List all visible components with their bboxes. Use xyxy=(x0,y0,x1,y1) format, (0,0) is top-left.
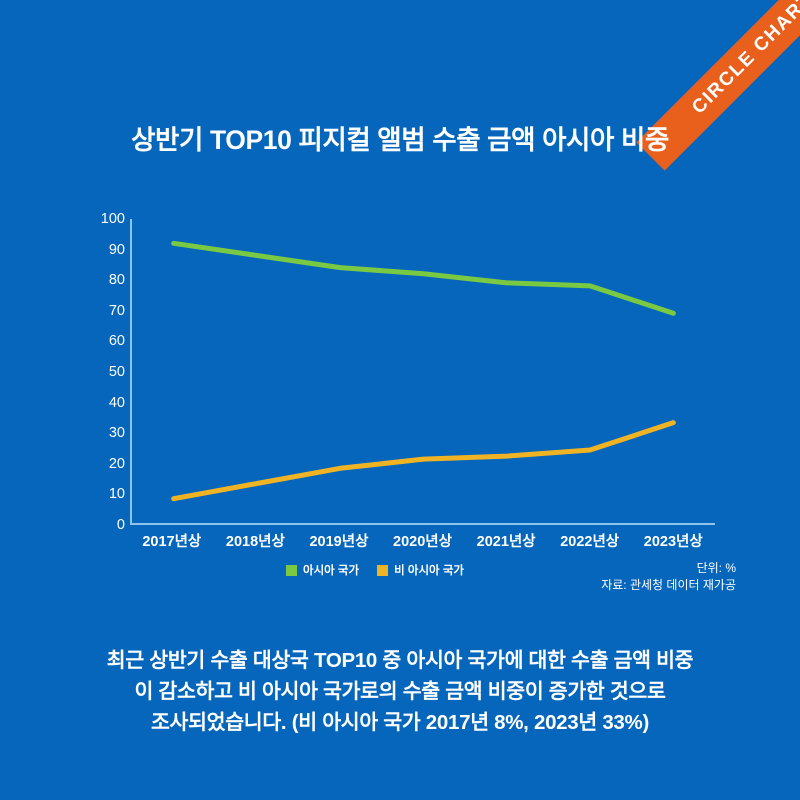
caption-line-3: 조사되었습니다. (비 아시아 국가 2017년 8%, 2023년 33%) xyxy=(30,707,770,738)
y-axis-labels: 100 90 80 70 60 50 40 30 20 10 0 xyxy=(85,219,125,525)
y-tick-0: 0 xyxy=(83,517,125,533)
series-line-아시아 국가 xyxy=(174,243,674,313)
infographic-canvas: CIRCLE CHART 상반기 TOP10 피지컬 앨범 수출 금액 아시아 … xyxy=(0,0,800,800)
y-tick-70: 70 xyxy=(83,303,125,319)
y-tick-60: 60 xyxy=(83,333,125,349)
source-note: 자료: 관세청 데이터 재가공 xyxy=(601,577,736,594)
y-tick-20: 20 xyxy=(83,456,125,472)
x-axis-labels: 2017년상 2018년상 2019년상 2020년상 2021년상 2022년… xyxy=(130,530,715,554)
x-tick-2018: 2018년상 xyxy=(214,530,298,554)
unit-note: 단위: % xyxy=(601,560,736,577)
y-tick-100: 100 xyxy=(83,211,125,227)
x-tick-2019: 2019년상 xyxy=(297,530,381,554)
square-swatch-icon xyxy=(286,565,297,576)
y-tick-80: 80 xyxy=(83,272,125,288)
plot-area xyxy=(130,219,715,525)
series-lines xyxy=(132,219,715,523)
caption-line-2: 이 감소하고 비 아시아 국가로의 수출 금액 비중이 증가한 것으로 xyxy=(30,676,770,707)
x-tick-2023: 2023년상 xyxy=(631,530,715,554)
corner-ribbon: CIRCLE CHART xyxy=(590,0,800,210)
series-line-비 아시아 국가 xyxy=(174,423,674,499)
chart-legend: 아시아 국가 비 아시아 국가 xyxy=(210,562,540,578)
page-title: 상반기 TOP10 피지컬 앨범 수출 금액 아시아 비중 xyxy=(0,118,800,157)
y-tick-50: 50 xyxy=(83,364,125,380)
y-tick-90: 90 xyxy=(83,242,125,258)
legend-label-asia: 아시아 국가 xyxy=(303,562,359,578)
legend-label-non-asia: 비 아시아 국가 xyxy=(394,562,464,578)
x-tick-2020: 2020년상 xyxy=(381,530,465,554)
chart-notes: 단위: % 자료: 관세청 데이터 재가공 xyxy=(601,560,736,595)
x-tick-2022: 2022년상 xyxy=(548,530,632,554)
y-tick-40: 40 xyxy=(83,395,125,411)
legend-item-non-asia: 비 아시아 국가 xyxy=(377,562,464,578)
line-chart: 100 90 80 70 60 50 40 30 20 10 0 2017년상 … xyxy=(85,205,735,550)
y-tick-10: 10 xyxy=(83,486,125,502)
caption-text: 최근 상반기 수출 대상국 TOP10 중 아시아 국가에 대한 수출 금액 비… xyxy=(30,645,770,738)
square-swatch-icon xyxy=(377,565,388,576)
x-tick-2021: 2021년상 xyxy=(464,530,548,554)
legend-item-asia: 아시아 국가 xyxy=(286,562,359,578)
caption-line-1: 최근 상반기 수출 대상국 TOP10 중 아시아 국가에 대한 수출 금액 비… xyxy=(30,645,770,676)
x-tick-2017: 2017년상 xyxy=(130,530,214,554)
y-tick-30: 30 xyxy=(83,425,125,441)
